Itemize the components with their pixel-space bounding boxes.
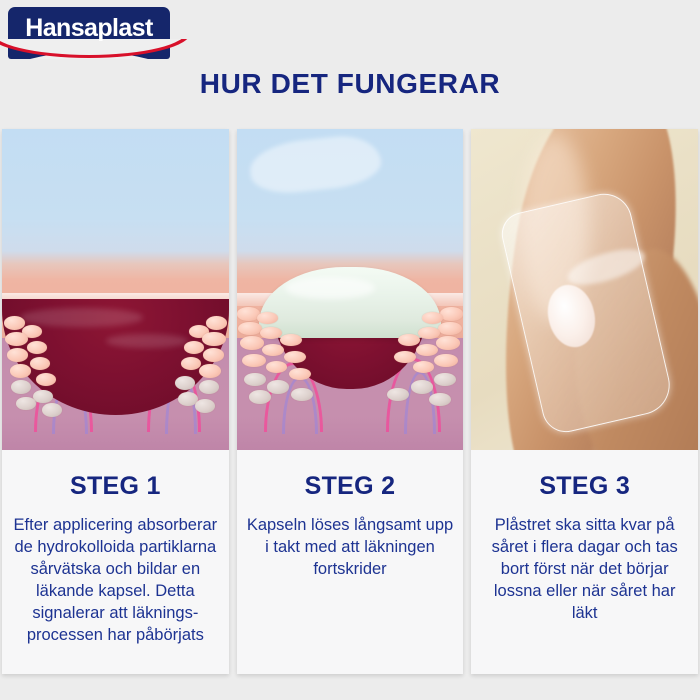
gel-highlight bbox=[285, 277, 376, 300]
step-3-photo bbox=[471, 129, 698, 450]
step-1-title: STEG 1 bbox=[12, 472, 219, 501]
step-1-body: STEG 1 Efter applicering absorberar de h… bbox=[2, 450, 229, 674]
steps-container: STEG 1 Efter applicering absorberar de h… bbox=[2, 129, 698, 674]
epidermis-cells-right-1 bbox=[152, 309, 229, 425]
step-3-title: STEG 3 bbox=[481, 472, 688, 501]
step-1-illustration bbox=[2, 129, 229, 450]
epidermis-cells-left-1 bbox=[2, 309, 79, 425]
step-3-description: Plåstret ska sitta kvar på såret i flera… bbox=[481, 515, 688, 625]
step-2-description: Kapseln löses långsamt upp i takt med at… bbox=[247, 515, 454, 581]
step-card-1: STEG 1 Efter applicering absorberar de h… bbox=[2, 129, 229, 674]
step-1-description: Efter applicering absorberar de hydrokol… bbox=[12, 515, 219, 647]
step-card-2: STEG 2 Kapseln löses långsamt upp i takt… bbox=[237, 129, 464, 674]
plaster-fold bbox=[565, 242, 650, 291]
epidermis-cells-left-2 bbox=[237, 302, 328, 424]
elbow-photo bbox=[471, 129, 698, 450]
hansaplast-logo: Hansaplast bbox=[8, 7, 170, 59]
logo-wordmark: Hansaplast bbox=[8, 14, 170, 43]
step-2-illustration bbox=[237, 129, 464, 450]
sky-highlight bbox=[248, 132, 384, 197]
step-3-body: STEG 3 Plåstret ska sitta kvar på såret … bbox=[471, 450, 698, 674]
epidermis-cells-right-2 bbox=[373, 302, 464, 424]
page-title: HUR DET FUNGERAR bbox=[0, 68, 700, 100]
step-card-3: STEG 3 Plåstret ska sitta kvar på såret … bbox=[471, 129, 698, 674]
step-2-title: STEG 2 bbox=[247, 472, 454, 501]
wound-pad bbox=[542, 280, 601, 351]
step-2-body: STEG 2 Kapseln löses långsamt upp i takt… bbox=[237, 450, 464, 674]
